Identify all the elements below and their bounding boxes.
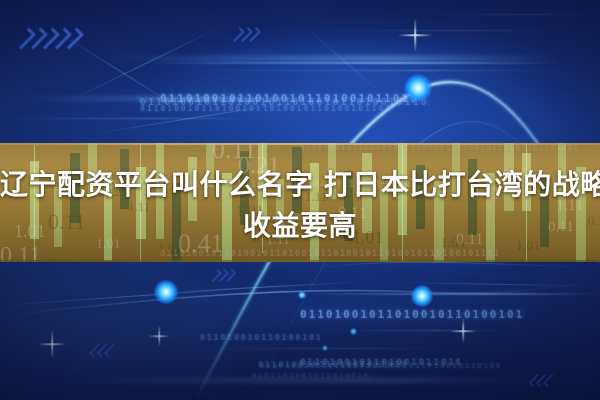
band-bottom-edge (0, 260, 600, 262)
page-title: 辽宁配资平台叫什么名字 打日本比打台湾的战略 收益要高 (0, 164, 600, 246)
binary-row: 0110100101101001011010010110100101101001… (300, 308, 525, 321)
sparkle-icon (450, 318, 476, 344)
band-top-edge (0, 143, 600, 145)
binary-row: 0101101001011010010110100101101001011010… (252, 372, 372, 380)
band-binary-row: 0110100101101001011010010110100101101001… (160, 249, 500, 259)
chevron-right-icon (234, 27, 258, 41)
glow-node-icon (350, 328, 357, 335)
sparkle-icon (398, 18, 432, 52)
chevron-right-icon (212, 269, 234, 282)
chevron-left-icon (532, 374, 554, 387)
glow-node-icon (411, 285, 433, 307)
banner-image: 0110100101101001011010010110100101101001… (0, 0, 600, 400)
glow-node-icon (322, 345, 328, 351)
headline-line-1: 辽宁配资平台叫什么名字 打日本比打台湾的战略 (0, 164, 600, 205)
glow-node-icon (404, 74, 432, 102)
chevron-left-icon (93, 344, 115, 357)
headline-line-2: 收益要高 (0, 205, 600, 246)
binary-row: 0110100101101001011010010110100101101001… (200, 333, 320, 342)
sparkle-icon (148, 325, 170, 347)
binary-row: 0110100101101001011010010110100101101001… (140, 97, 430, 108)
sparkle-icon (38, 330, 66, 358)
glow-node-icon (298, 291, 306, 299)
glow-node-icon (154, 280, 178, 304)
chevron-right-icon (20, 28, 80, 49)
binary-row: 0110100101101001011010010110100101101001… (260, 362, 500, 370)
